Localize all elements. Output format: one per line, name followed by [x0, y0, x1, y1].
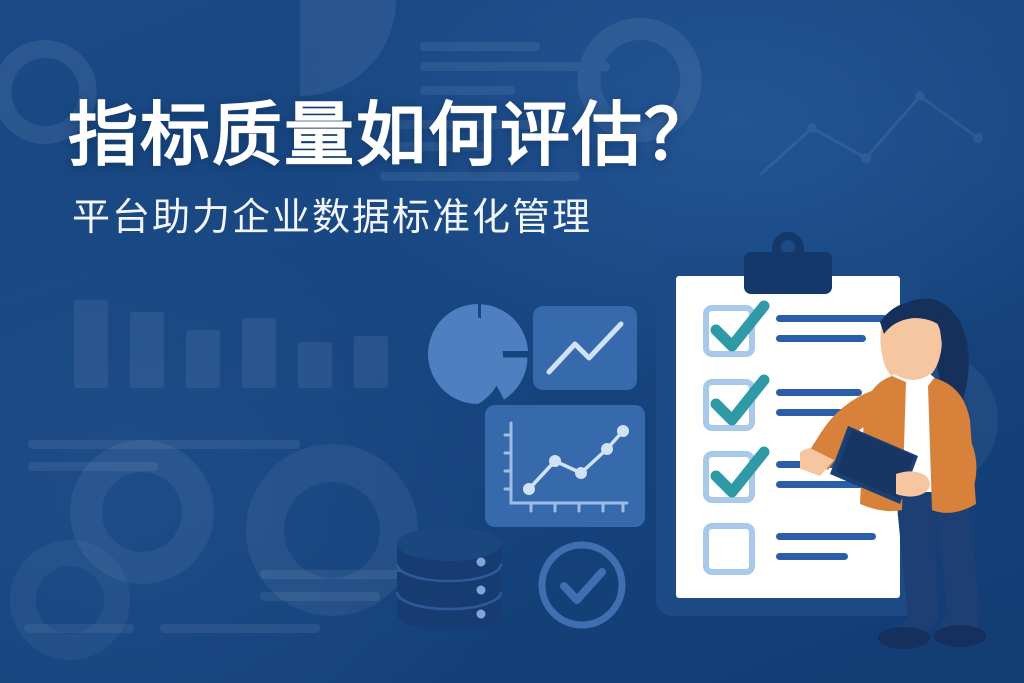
poster-canvas: 指标质量如何评估？ 平台助力企业数据标准化管理 [0, 0, 1024, 683]
check-circle-icon [533, 536, 631, 634]
page-subtitle: 平台助力企业数据标准化管理 [72, 196, 716, 242]
text-block: 指标质量如何评估？ 平台助力企业数据标准化管理 [68, 96, 716, 242]
businesswoman-pointing [800, 278, 1024, 658]
pie-chart-icon [424, 300, 532, 408]
analytics-card-icon [485, 405, 645, 527]
database-stack-icon [393, 518, 513, 628]
line-chart-card-icon [533, 306, 637, 390]
page-title: 指标质量如何评估？ [68, 96, 716, 174]
